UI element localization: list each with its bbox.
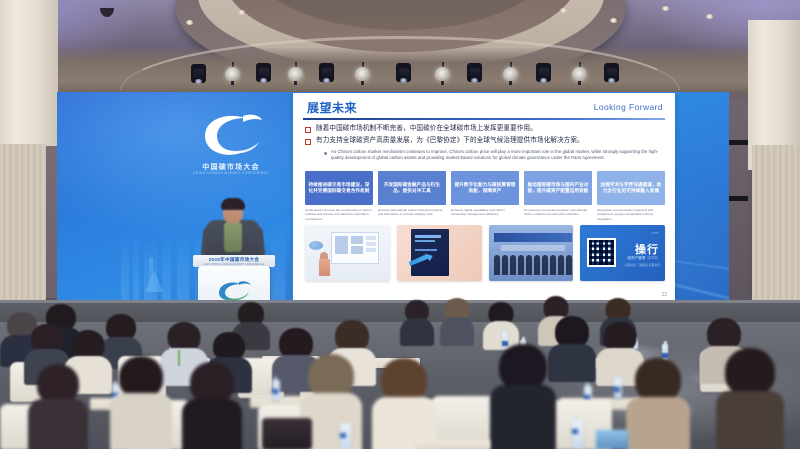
dot-bullet-icon [324, 152, 327, 155]
photo-stage-banner [494, 233, 572, 242]
slide-bullet: 随着中国碳市场机制不断完善，中国碳价在全球碳市场上发挥更重要作用。 [305, 125, 665, 133]
audience-person [490, 344, 556, 449]
photo-logo-mark-icon [309, 241, 323, 250]
qr-card-line3: 扫码关注 了解更多 获取资讯 [625, 263, 660, 267]
slide-photo-row: CTO 操行 碳资产管理（CTO） 扫码关注 了解更多 获取资讯 [305, 225, 665, 281]
downlight [706, 14, 713, 19]
photo-lectern [319, 259, 330, 276]
moving-head-light [255, 59, 272, 85]
qr-card-wordmark: 操行 [635, 241, 659, 257]
audience-person [28, 364, 88, 449]
slide-box-caption: Continuously promote the construction of… [305, 208, 373, 221]
slide-box-caption: Promote the connection between internati… [524, 208, 592, 217]
report-cover-photo [397, 225, 482, 281]
qr-code-icon [587, 238, 616, 267]
audience-person [626, 358, 690, 449]
moving-head-light [535, 59, 552, 85]
slide-box-title: 推动国际碳市场与国内产业对接，提升碳资产配置运用效能 [524, 171, 592, 205]
slide-box: 加强学术与学界沟通渠道，助力全行业的可持续融入发展 Strengthen com… [597, 171, 665, 221]
water-bottle [340, 424, 351, 449]
group-on-stage-photo [489, 225, 574, 281]
audience-person [182, 362, 242, 449]
slide-box-title: 持续推进碳交易市场建设，深化并完善国际碳交易合作机制 [305, 171, 373, 205]
downlight [186, 20, 193, 25]
slide-box: 提升数字化能力与碳核算管理效能，保障资产 Enhance digital cap… [451, 171, 519, 221]
par-can-light [225, 62, 240, 84]
slide-subbullet: As China's carbon market mechanism conti… [324, 149, 665, 161]
square-bullet-icon [305, 139, 311, 145]
keynote-speaker [200, 200, 266, 262]
slide-bullet-list: 随着中国碳市场机制不断完善，中国碳价在全球碳市场上发挥更重要作用。 有力支持全球… [305, 125, 665, 161]
slide-box-title: 加强学术与学界沟通渠道，助力全行业的可持续融入发展 [597, 171, 665, 205]
downlight [238, 10, 245, 15]
lanyard [178, 350, 180, 366]
photo-stage-subbanner [501, 245, 565, 251]
smartphone [596, 430, 628, 449]
par-can-light [355, 62, 370, 84]
moving-head-light [603, 59, 620, 85]
downlight [662, 6, 669, 11]
audience-person [483, 302, 519, 348]
downlight [560, 8, 567, 13]
slide-box-title: 提升数字化能力与碳核算管理效能，保障资产 [451, 171, 519, 205]
slide-subbullet-text: As China's carbon market mechanism conti… [331, 149, 665, 161]
water-bottle [614, 378, 622, 399]
podium-headline-en: 2025 CHINA CARBON MARKET CONFERENCE [193, 263, 275, 266]
slide-header: 展望未来 Looking Forward [293, 93, 675, 119]
event-logo: 中国碳市场大会 CHINA CARBON MARKET CONFERENCE [179, 106, 283, 180]
slide-box-caption: Strengthen communication channels with a… [597, 208, 665, 221]
water-bottle [272, 380, 280, 401]
audience-person [372, 358, 436, 449]
conference-hall-photo: 中国碳市场大会 CHINA CARBON MARKET CONFERENCE 展… [0, 0, 800, 449]
speaker-at-lectern-photo [305, 225, 390, 281]
photo-projection-screen [331, 232, 379, 264]
event-logo-c-mark-icon [193, 110, 267, 160]
moving-head-light [395, 59, 412, 85]
moving-head-light [318, 59, 335, 85]
audience-person [716, 348, 784, 449]
led-stage-screen: 中国碳市场大会 CHINA CARBON MARKET CONFERENCE 展… [57, 92, 729, 306]
slide-box: 持续推进碳交易市场建设，深化并完善国际碳交易合作机制 Continuously … [305, 171, 373, 221]
slide-box-row: 持续推进碳交易市场建设，深化并完善国际碳交易合作机制 Continuously … [305, 171, 665, 221]
presentation-slide: 展望未来 Looking Forward 随着中国碳市场机制不断完善，中国碳价在… [293, 93, 675, 301]
slide-box-caption: Enhance digital capabilities and carbon … [451, 208, 519, 217]
photo-report-cover [411, 229, 449, 276]
event-logo-title-en: CHINA CARBON MARKET CONFERENCE [179, 171, 283, 175]
par-can-light [435, 62, 450, 84]
moving-head-light [466, 59, 483, 85]
audience-table [416, 440, 490, 449]
par-can-light [288, 62, 303, 84]
slide-title-cn: 展望未来 [307, 99, 357, 116]
par-can-light [503, 62, 518, 84]
upward-arrow-head [145, 270, 163, 292]
speaker-glasses-icon [224, 209, 242, 213]
slide-box: 推动国际碳市场与国内产业对接，提升碳资产配置运用效能 Promote the c… [524, 171, 592, 221]
audience-person [110, 356, 172, 449]
slide-title-en: Looking Forward [594, 102, 663, 112]
slide-box: 开发国际碳金融产品与衍生品，提供对冲工具 Develop internation… [378, 171, 446, 221]
pillar-left [0, 0, 58, 146]
stage-light-rig [0, 56, 800, 96]
water-bottle [572, 420, 583, 449]
audience-person [400, 300, 434, 344]
qr-card-header: CTO [652, 231, 659, 235]
slide-bullet-text: 有力支持全球碳资产高质量发展，为《巴黎协定》下的全球气候治理提供市场化解决方案。 [316, 137, 584, 145]
backpack [262, 418, 312, 449]
qr-card-line2: 碳资产管理（CTO） [627, 256, 660, 261]
slide-divider [303, 118, 665, 120]
downlight [610, 18, 617, 23]
square-bullet-icon [305, 127, 311, 133]
slide-page-number: 12 [661, 292, 667, 298]
qr-code-card-photo: CTO 操行 碳资产管理（CTO） 扫码关注 了解更多 获取资讯 [580, 225, 665, 281]
par-can-light [572, 62, 587, 84]
slide-bullet: 有力支持全球碳资产高质量发展，为《巴黎协定》下的全球气候治理提供市场化解决方案。 [305, 137, 665, 145]
audience-seating [0, 300, 800, 449]
slide-box-caption: Develop international carbon financial p… [378, 208, 446, 217]
slide-box-title: 开发国际碳金融产品与衍生品，提供对冲工具 [378, 171, 446, 205]
moving-head-light [190, 60, 207, 86]
speaker-shirt [224, 222, 242, 252]
audience-person [440, 298, 474, 344]
slide-bullet-text: 随着中国碳市场机制不断完善，中国碳价在全球碳市场上发挥更重要作用。 [316, 125, 537, 133]
